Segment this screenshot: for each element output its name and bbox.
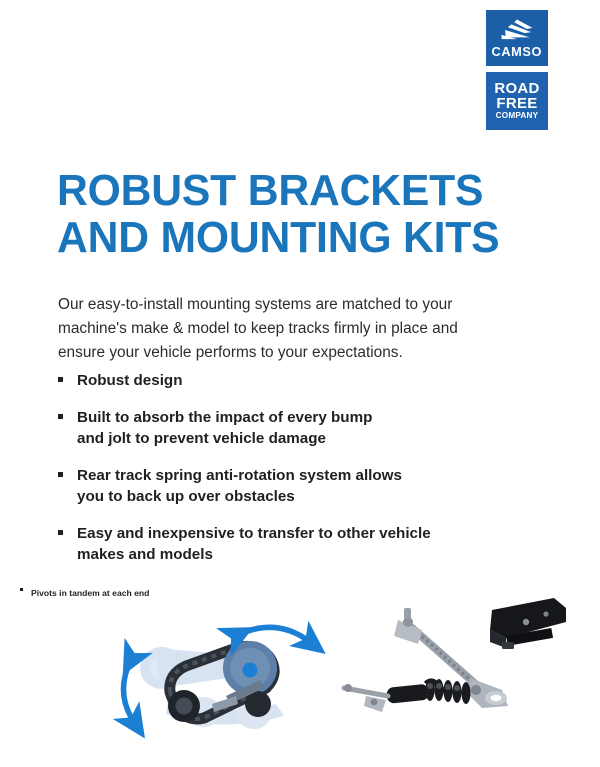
list-item: Rear track spring anti-rotation system a… — [58, 465, 518, 508]
bullet-text: Easy and inexpensive to transfer to othe… — [77, 523, 518, 566]
bullet-line: Easy and inexpensive to transfer to othe… — [77, 523, 518, 545]
mounting-hardware-illustration — [330, 592, 570, 732]
brochure-page: CAMSO ROAD FREE COMPANY ROBUST BRACKETS … — [0, 0, 600, 767]
list-item: Easy and inexpensive to transfer to othe… — [58, 523, 518, 566]
feature-bullet-list: Robust design Built to absorb the impact… — [58, 370, 518, 566]
headline-line-2: AND MOUNTING KITS — [57, 214, 474, 261]
bullet-line: Robust design — [77, 370, 518, 392]
logo-stack: CAMSO ROAD FREE COMPANY — [486, 10, 548, 130]
camso-chevron-icon — [496, 17, 538, 43]
bullet-line: Built to absorb the impact of every bump — [77, 407, 518, 429]
mounting-bracket-part — [490, 598, 566, 649]
bullet-line: makes and models — [77, 544, 518, 566]
bullet-line: you to back up over obstacles — [77, 486, 518, 508]
square-bullet-icon — [58, 530, 63, 535]
intro-line-2: machine's make & model to keep tracks fi… — [58, 317, 528, 341]
bullet-line: Rear track spring anti-rotation system a… — [77, 465, 518, 487]
coil-spring-damper-part — [344, 679, 471, 712]
intro-line-3: ensure your vehicle performs to your exp… — [58, 341, 528, 365]
mounting-hardware-icon — [330, 592, 570, 732]
bullet-line: and jolt to prevent vehicle damage — [77, 428, 518, 450]
track-system-illustration — [108, 600, 338, 740]
bullet-text: Built to absorb the impact of every bump… — [77, 407, 518, 450]
bullet-text: Rear track spring anti-rotation system a… — [77, 465, 518, 508]
square-bullet-icon — [20, 588, 23, 591]
list-item: Robust design — [58, 370, 518, 392]
footnote-text: Pivots in tandem at each end — [31, 588, 149, 598]
list-item: Built to absorb the impact of every bump… — [58, 407, 518, 450]
square-bullet-icon — [58, 472, 63, 477]
headline-line-1: ROBUST BRACKETS — [57, 167, 474, 214]
intro-paragraph: Our easy-to-install mounting systems are… — [58, 293, 528, 365]
pivot-arrow-left — [123, 658, 134, 722]
road-free-line-3: COMPANY — [496, 112, 539, 120]
footnote: Pivots in tandem at each end — [20, 583, 149, 601]
square-bullet-icon — [58, 377, 63, 382]
pivot-arrow-top — [236, 627, 310, 642]
square-bullet-icon — [58, 414, 63, 419]
road-free-company-badge: ROAD FREE COMPANY — [486, 72, 548, 130]
road-free-line-2: FREE — [496, 97, 537, 111]
camso-wordmark: CAMSO — [492, 46, 543, 59]
track-pivot-diagram-icon — [108, 600, 338, 740]
intro-line-1: Our easy-to-install mounting systems are… — [58, 293, 528, 317]
bullet-text: Robust design — [77, 370, 518, 392]
page-title: ROBUST BRACKETS AND MOUNTING KITS — [57, 167, 474, 261]
camso-logo-badge: CAMSO — [486, 10, 548, 66]
